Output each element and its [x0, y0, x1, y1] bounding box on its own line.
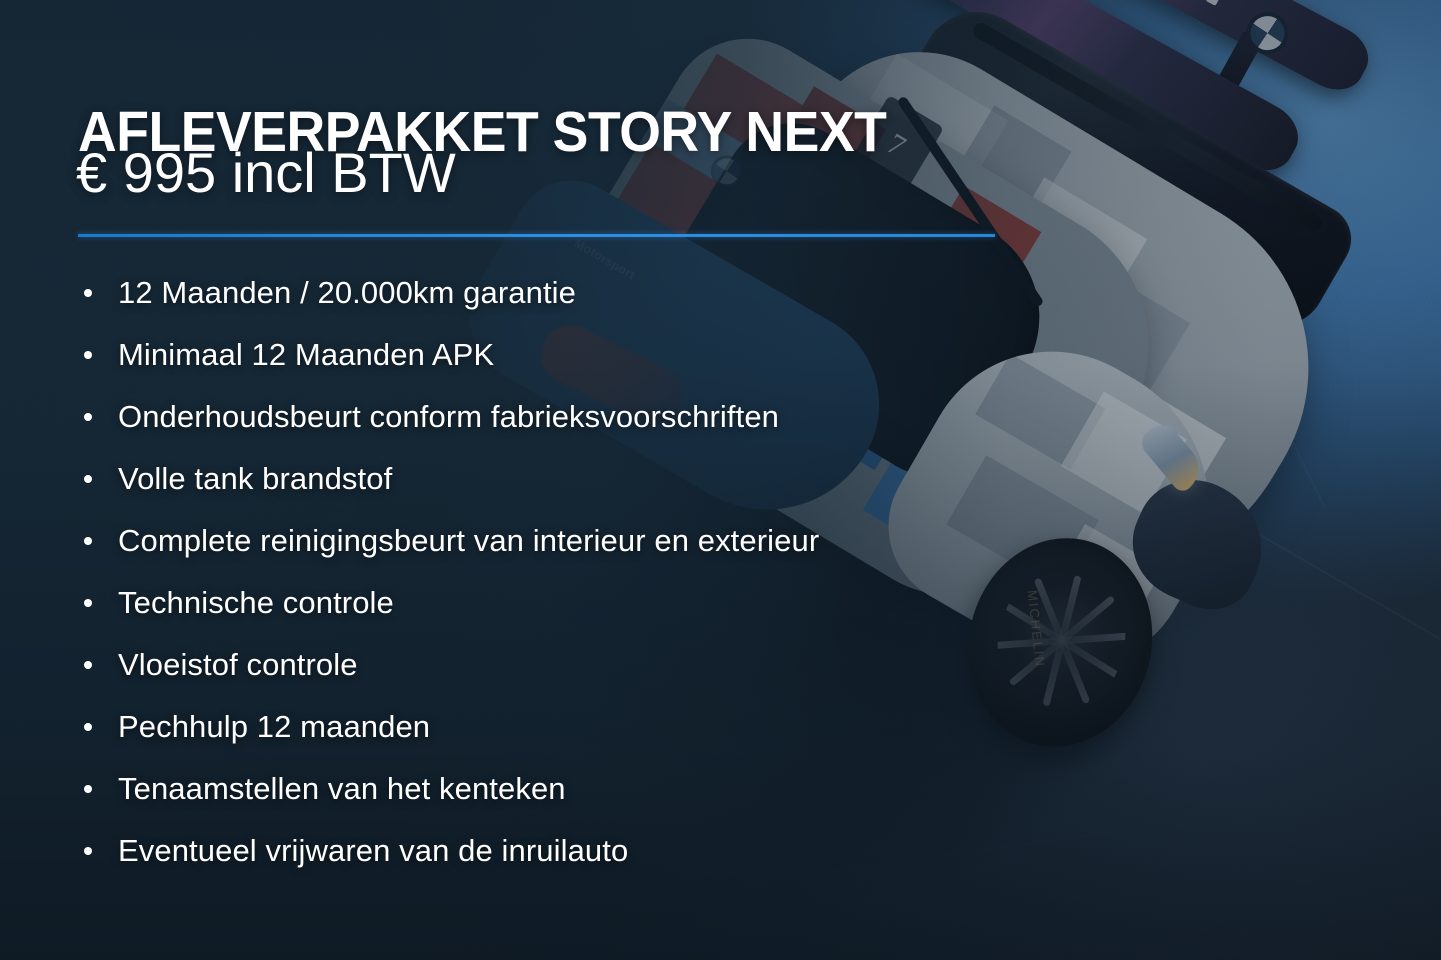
list-item: Vloeistof controle	[78, 634, 1128, 696]
bullet-icon	[84, 599, 92, 607]
bullet-icon	[84, 413, 92, 421]
list-item-label: Pechhulp 12 maanden	[118, 709, 430, 744]
list-item: 12 Maanden / 20.000km garantie	[78, 262, 1128, 324]
list-item-label: Minimaal 12 Maanden APK	[118, 337, 494, 372]
list-item-label: Vloeistof controle	[118, 647, 358, 682]
bullet-icon	[84, 785, 92, 793]
list-item-label: 12 Maanden / 20.000km garantie	[118, 275, 576, 310]
list-item-label: Onderhoudsbeurt conform fabrieksvoorschr…	[118, 399, 779, 434]
bullet-icon	[84, 661, 92, 669]
list-item-label: Volle tank brandstof	[118, 461, 392, 496]
promo-banner: Motorsport Motorsport	[0, 0, 1441, 960]
list-item-label: Technische controle	[118, 585, 394, 620]
bullet-icon	[84, 289, 92, 297]
bullet-icon	[84, 475, 92, 483]
list-item: Tenaamstellen van het kenteken	[78, 758, 1128, 820]
divider	[78, 234, 995, 237]
list-item: Eventueel vrijwaren van de inruilauto	[78, 820, 1128, 882]
list-item-label: Tenaamstellen van het kenteken	[118, 771, 566, 806]
list-item: Volle tank brandstof	[78, 448, 1128, 510]
price-label: € 995 incl BTW	[76, 142, 456, 204]
list-item: Pechhulp 12 maanden	[78, 696, 1128, 758]
bullet-icon	[84, 723, 92, 731]
list-item: Technische controle	[78, 572, 1128, 634]
list-item: Minimaal 12 Maanden APK	[78, 324, 1128, 386]
list-item-label: Eventueel vrijwaren van de inruilauto	[118, 833, 628, 868]
bullet-icon	[84, 351, 92, 359]
feature-list: 12 Maanden / 20.000km garantie Minimaal …	[78, 262, 1128, 882]
banner-content: AFLEVERPAKKET STORY NEXT € 995 incl BTW …	[0, 0, 1441, 960]
list-item-label: Complete reinigingsbeurt van interieur e…	[118, 523, 819, 558]
bullet-icon	[84, 537, 92, 545]
list-item: Onderhoudsbeurt conform fabrieksvoorschr…	[78, 386, 1128, 448]
list-item: Complete reinigingsbeurt van interieur e…	[78, 510, 1128, 572]
bullet-icon	[84, 847, 92, 855]
